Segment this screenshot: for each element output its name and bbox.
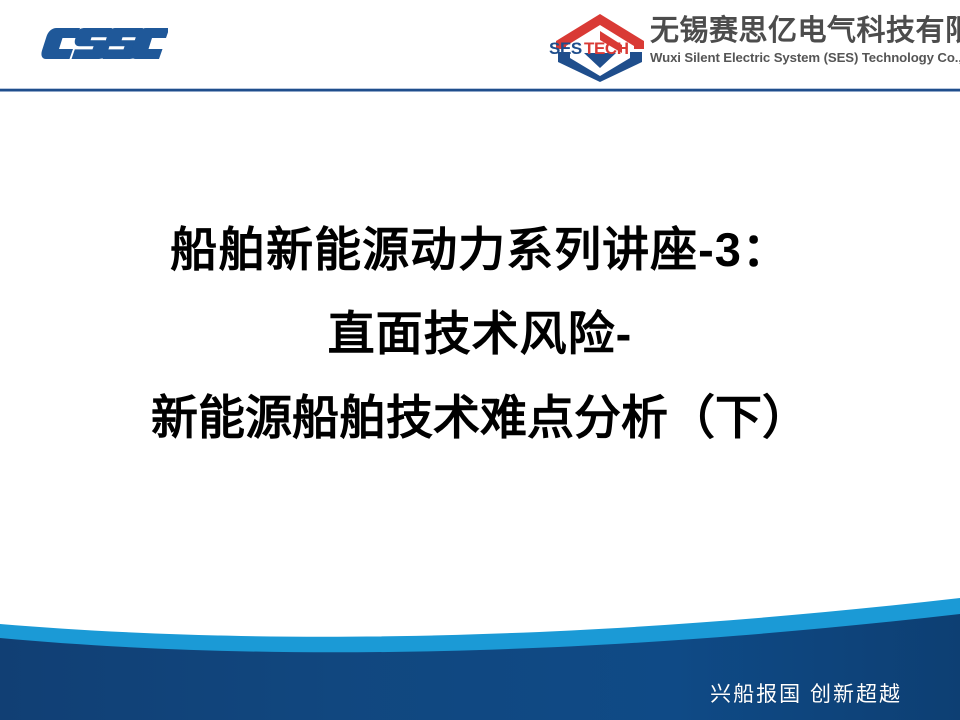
svg-text:SES: SES [549,39,582,58]
svg-text:TECH: TECH [584,39,629,58]
title-line-3: 新能源船舶技术难点分析（下） [0,376,960,460]
title-line-1: 船舶新能源动力系列讲座-3： [0,208,960,292]
sestech-emblem-icon: SES TECH [548,8,652,82]
slide-title-block: 船舶新能源动力系列讲座-3： 直面技术风险- 新能源船舶技术难点分析（下） [0,208,960,460]
company-name-cn: 无锡赛思亿电气科技有限公司 [650,14,950,48]
company-name-en: Wuxi Silent Electric System (SES) Techno… [650,50,950,66]
header-divider [0,88,960,92]
slide-header: SES TECH 无锡赛思亿电气科技有限公司 Wuxi Silent Elect… [0,0,960,88]
cssc-logo-icon [28,18,168,70]
title-line-2: 直面技术风险- [0,292,960,376]
presentation-slide: SES TECH 无锡赛思亿电气科技有限公司 Wuxi Silent Elect… [0,0,960,720]
company-name-block: 无锡赛思亿电气科技有限公司 Wuxi Silent Electric Syste… [650,14,950,66]
footer-slogan: 兴船报国 创新超越 [710,678,902,708]
